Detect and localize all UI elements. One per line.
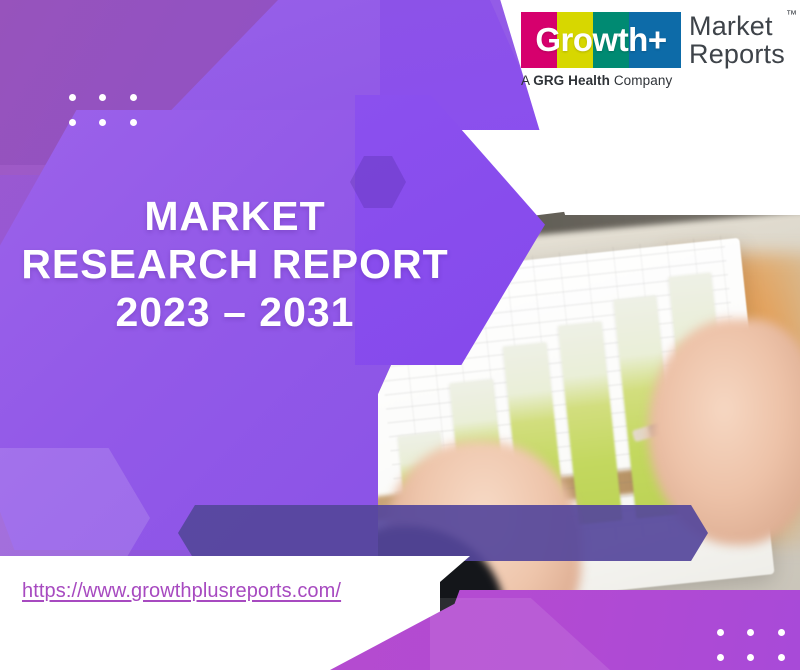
trademark-icon: ™: [786, 9, 797, 21]
dot: [717, 629, 724, 636]
tagline-prefix: A: [521, 73, 533, 88]
dot: [69, 119, 76, 126]
tagline-suffix: Company: [610, 73, 672, 88]
brand-logo[interactable]: Growth+ Market Reports ™ A GRG Health Co…: [521, 12, 789, 88]
dot-grid-top-left: [57, 85, 149, 135]
logo-row: Growth+ Market Reports ™: [521, 12, 789, 68]
logo-brand-line-2: Reports: [689, 40, 785, 68]
report-cover: MARKET RESEARCH REPORT 2023 – 2031 https…: [0, 0, 800, 670]
logo-tagline: A GRG Health Company: [521, 73, 789, 88]
tagline-bold: GRG Health: [533, 73, 610, 88]
page-title: MARKET RESEARCH REPORT 2023 – 2031: [0, 192, 470, 336]
dot: [99, 94, 106, 101]
dot: [778, 629, 785, 636]
decor-hexagon-band-dark: [178, 505, 708, 561]
dot: [130, 119, 137, 126]
dot: [747, 629, 754, 636]
logo-wordmark: Growth+: [521, 12, 681, 68]
title-line-3: 2023 – 2031: [0, 288, 470, 336]
dot: [717, 654, 724, 661]
title-line-2: RESEARCH REPORT: [0, 240, 470, 288]
logo-brand-text: Market Reports ™: [689, 12, 785, 68]
dot: [778, 654, 785, 661]
dot: [130, 94, 137, 101]
website-url-link[interactable]: https://www.growthplusreports.com/: [22, 580, 341, 603]
dot: [747, 654, 754, 661]
logo-brand-line-1: Market: [689, 12, 785, 40]
dot-grid-bottom-right: [705, 620, 797, 670]
growth-plus-logo-mark: Growth+: [521, 12, 681, 68]
dot: [69, 94, 76, 101]
title-line-1: MARKET: [0, 192, 470, 240]
dot: [99, 119, 106, 126]
